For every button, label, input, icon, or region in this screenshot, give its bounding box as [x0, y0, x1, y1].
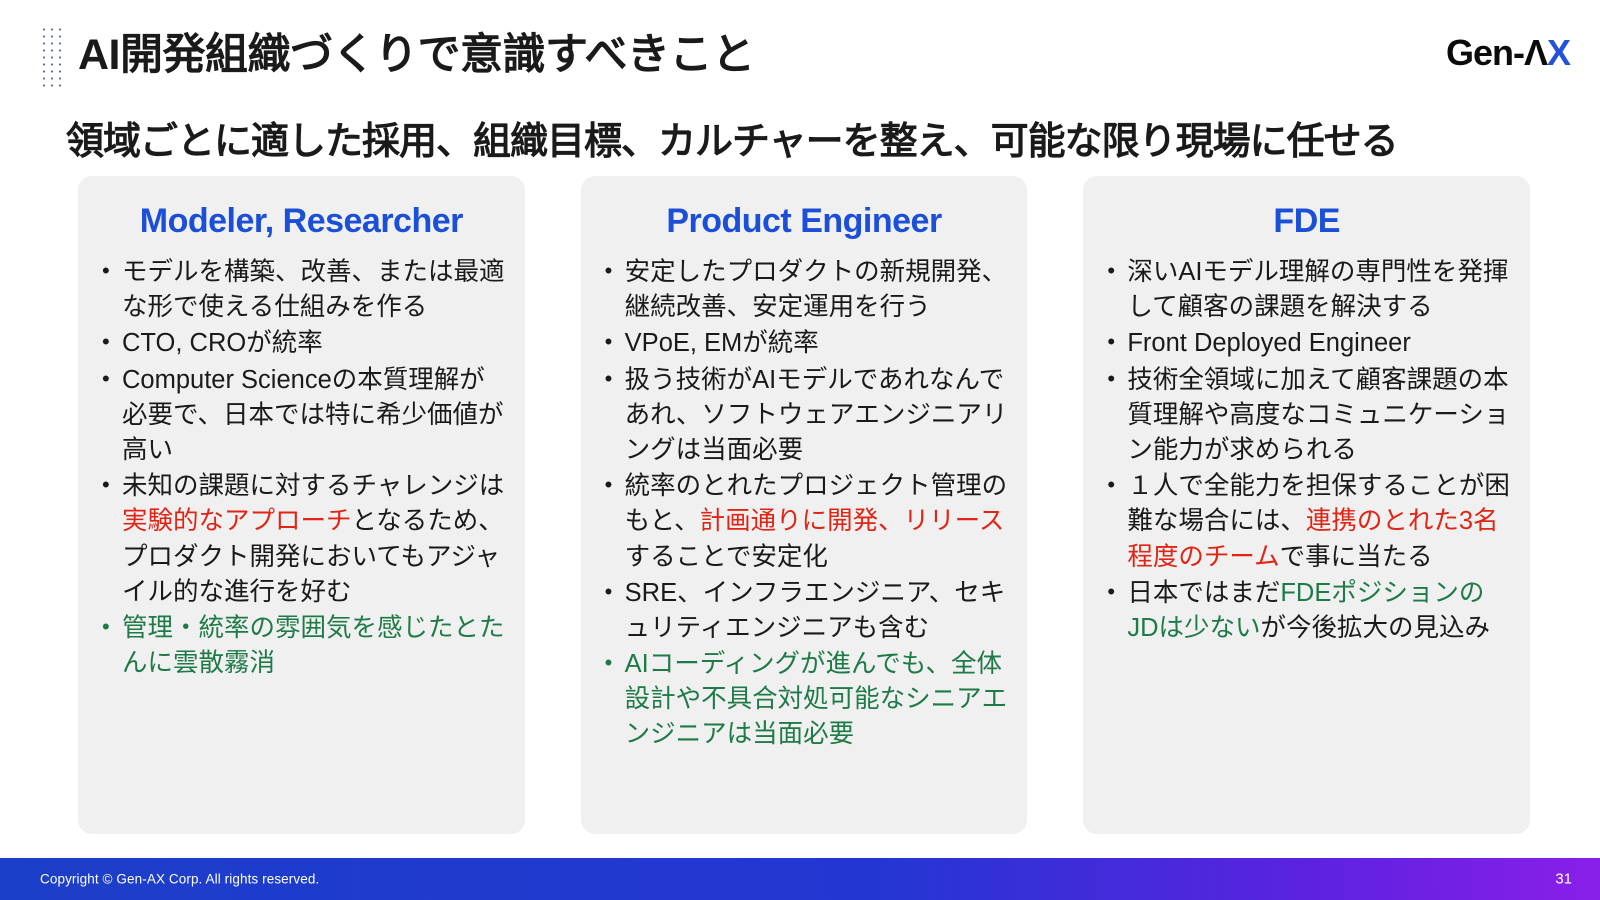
slide-header: AI開発組織づくりで意識すべきこと Gen-ΛX [0, 0, 1600, 100]
body-text: 深いAIモデル理解の専門性を発揮して顧客の課題を解決する [1127, 258, 1508, 321]
card-title: Modeler, Researcher [96, 202, 507, 241]
list-item: Front Deployed Engineer [1101, 326, 1512, 361]
list-item: VPoE, EMが統率 [599, 326, 1010, 361]
body-text: モデルを構築、改善、または最適な形で使える仕組みを作る [122, 258, 505, 321]
list-item: 統率のとれたプロジェクト管理のもと、計画通りに開発、リリースすることで安定化 [599, 469, 1010, 575]
card-fde: FDE 深いAIモデル理解の専門性を発揮して顧客の課題を解決するFront De… [1083, 176, 1530, 834]
list-item: Computer Scienceの本質理解が必要で、日本では特に希少価値が高い [96, 363, 507, 469]
list-item: CTO, CROが統率 [96, 326, 507, 361]
slide-footer: Copyright © Gen-AX Corp. All rights rese… [0, 858, 1600, 900]
card-modeler-researcher: Modeler, Researcher モデルを構築、改善、または最適な形で使え… [78, 176, 525, 834]
page-title: AI開発組織づくりで意識すべきこと [78, 20, 755, 82]
brand-logo-x: X [1547, 32, 1570, 74]
highlight-red-text: 実験的なアプローチ [122, 507, 352, 535]
list-item: １人で全能力を担保することが困難な場合には、連携のとれた3名程度のチームで事に当… [1101, 469, 1512, 575]
body-text: SRE、インフラエンジニア、セキュリティエンジニアも含む [625, 579, 1006, 642]
list-item: AIコーディングが進んでも、全体設計や不具合対処可能なシニアエンジニアは当面必要 [599, 647, 1010, 753]
list-item: SRE、インフラエンジニア、セキュリティエンジニアも含む [599, 576, 1010, 646]
body-text: Computer Scienceの本質理解が必要で、日本では特に希少価値が高い [122, 366, 503, 464]
cards-row: Modeler, Researcher モデルを構築、改善、または最適な形で使え… [78, 176, 1530, 834]
brand-logo-lambda: Λ [1524, 32, 1547, 74]
body-text: 扱う技術がAIモデルであれなんであれ、ソフトウェアエンジニアリングは当面必要 [625, 366, 1008, 464]
footer-copyright: Copyright © Gen-AX Corp. All rights rese… [40, 872, 319, 887]
body-text: Front Deployed Engineer [1127, 329, 1411, 357]
list-item: 深いAIモデル理解の専門性を発揮して顧客の課題を解決する [1101, 255, 1512, 325]
list-item: モデルを構築、改善、または最適な形で使える仕組みを作る [96, 255, 507, 325]
card-title: Product Engineer [599, 202, 1010, 241]
highlight-red-text: 計画通りに開発、リリース [700, 507, 1005, 535]
highlight-green-text: AIコーディングが進んでも、全体設計や不具合対処可能なシニアエンジニアは当面必要 [625, 650, 1008, 748]
card-product-engineer: Product Engineer 安定したプロダクトの新規開発、継続改善、安定運… [581, 176, 1028, 834]
brand-logo: Gen-ΛX [1446, 32, 1570, 74]
body-text: することで安定化 [625, 543, 828, 571]
list-item: 安定したプロダクトの新規開発、継続改善、安定運用を行う [599, 255, 1010, 325]
card-title: FDE [1101, 202, 1512, 241]
list-item: 技術全領域に加えて顧客課題の本質理解や高度なコミュニケーション能力が求められる [1101, 363, 1512, 469]
body-text: が今後拡大の見込み [1261, 614, 1491, 642]
slide-subtitle: 領域ごとに適した採用、組織目標、カルチャーを整え、可能な限り現場に任せる [66, 110, 1398, 165]
brand-logo-prefix: Gen- [1446, 32, 1524, 74]
body-text: 技術全領域に加えて顧客課題の本質理解や高度なコミュニケーション能力が求められる [1127, 366, 1509, 464]
card-bullet-list: 安定したプロダクトの新規開発、継続改善、安定運用を行うVPoE, EMが統率扱う… [599, 255, 1010, 753]
body-text: で事に当たる [1280, 543, 1433, 571]
body-text: 安定したプロダクトの新規開発、継続改善、安定運用を行う [625, 258, 1008, 321]
body-text: CTO, CROが統率 [122, 329, 323, 357]
card-bullet-list: モデルを構築、改善、または最適な形で使える仕組みを作るCTO, CROが統率Co… [96, 255, 507, 681]
body-text: 未知の課題に対するチャレンジは [122, 472, 504, 500]
card-bullet-list: 深いAIモデル理解の専門性を発揮して顧客の課題を解決するFront Deploy… [1101, 255, 1512, 646]
list-item: 日本ではまだFDEポジションのJDは少ないが今後拡大の見込み [1101, 576, 1512, 646]
highlight-green-text: 管理・統率の雰囲気を感じたとたんに雲散霧消 [122, 614, 505, 677]
dot-grid-decoration-icon [40, 26, 66, 88]
list-item: 未知の課題に対するチャレンジは実験的なアプローチとなるため、プロダクト開発におい… [96, 469, 507, 610]
list-item: 管理・統率の雰囲気を感じたとたんに雲散霧消 [96, 611, 507, 681]
page-number: 31 [1555, 871, 1572, 888]
body-text: 日本ではまだ [1127, 579, 1280, 607]
list-item: 扱う技術がAIモデルであれなんであれ、ソフトウェアエンジニアリングは当面必要 [599, 363, 1010, 469]
body-text: VPoE, EMが統率 [625, 329, 819, 357]
